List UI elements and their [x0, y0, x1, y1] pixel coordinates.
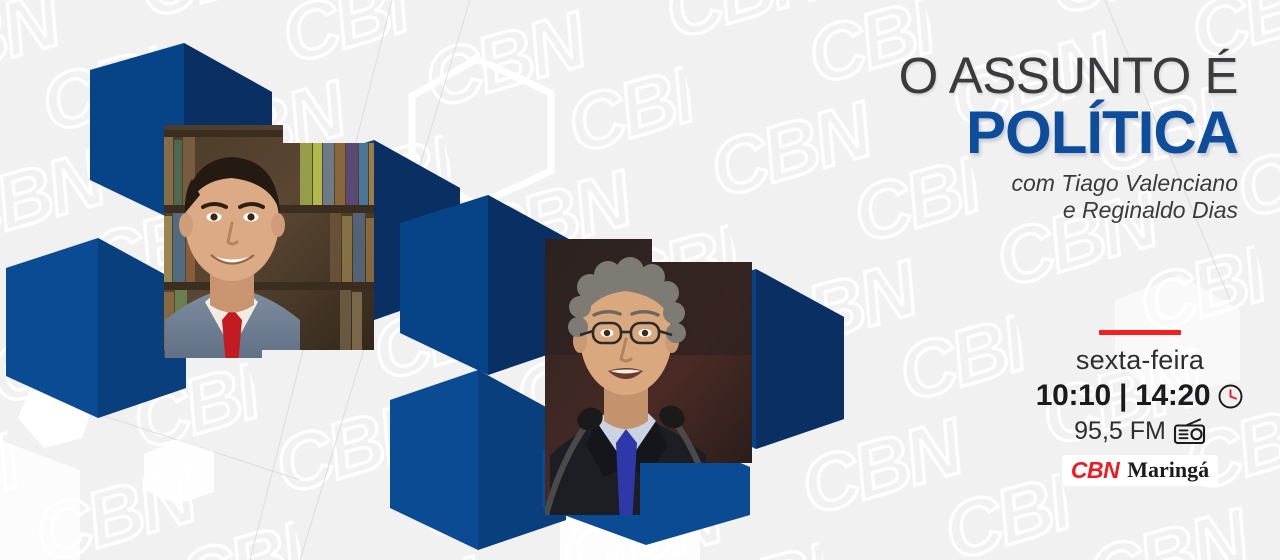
broadcast-day: sexta-feira — [1042, 344, 1238, 376]
program-title-line2: POLÍTICA — [899, 102, 1238, 164]
broadcast-frequency: 95,5 FM — [1074, 417, 1166, 446]
broadcast-frequency-row: 95,5 FM — [1042, 417, 1238, 446]
program-title-block: O ASSUNTO É POLÍTICA com Tiago Valencian… — [899, 48, 1238, 224]
radio-program-banner: CBN CBN — [0, 0, 1280, 560]
host-line-1: com Tiago Valenciano — [899, 170, 1238, 197]
person-photo-right — [390, 215, 860, 560]
station-logo: CBN Maringá — [1062, 455, 1218, 486]
broadcast-times: 10:10 | 14:20 — [1036, 379, 1211, 413]
hexagon-shape-left-bottom — [6, 238, 186, 418]
photo-tiago-valenciano — [150, 120, 390, 365]
radio-icon — [1173, 418, 1206, 445]
station-brand: CBN — [1071, 457, 1119, 483]
program-hosts: com Tiago Valenciano e Reginaldo Dias — [899, 170, 1238, 224]
hexagon-shape-right-bottom — [390, 370, 566, 550]
clock-icon — [1217, 383, 1244, 410]
broadcast-times-row: 10:10 | 14:20 — [1042, 379, 1238, 413]
station-city: Maringá — [1127, 457, 1209, 483]
broadcast-schedule-block: sexta-feira 10:10 | 14:20 95,5 FM — [1042, 330, 1238, 486]
host-line-2: e Reginaldo Dias — [899, 197, 1238, 224]
program-title-line1: O ASSUNTO É — [899, 48, 1238, 104]
red-divider-rule — [1099, 330, 1181, 335]
